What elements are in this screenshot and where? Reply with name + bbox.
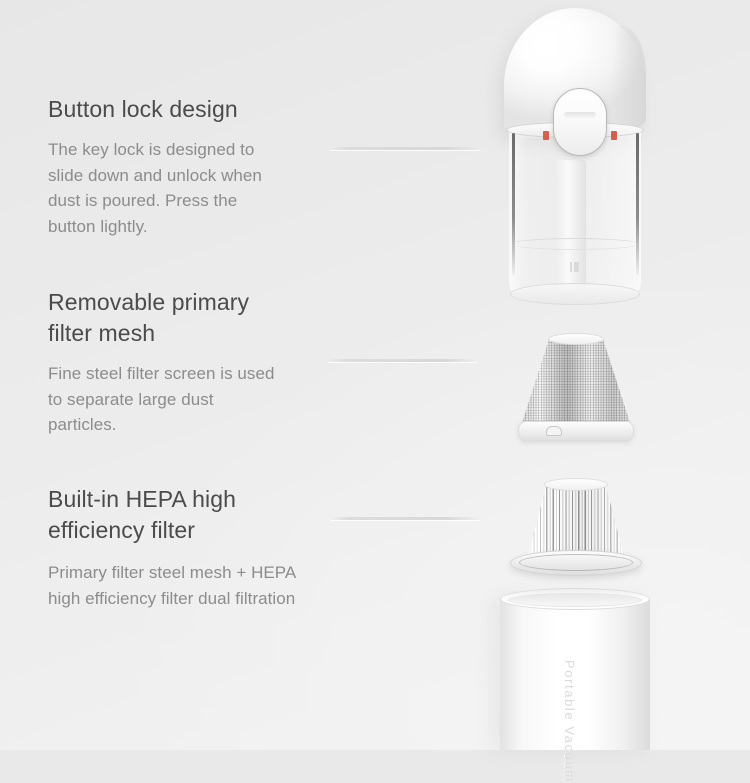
- lock-button-groove: [564, 112, 596, 118]
- steel-mesh-filter: [520, 333, 632, 445]
- body-brand-label: Portable Vacuum: [562, 660, 577, 783]
- dust-cup-marking: [570, 262, 579, 272]
- hepa-cone-shading: [527, 484, 625, 560]
- lock-indicator-left: [543, 131, 549, 140]
- dust-cup-edge-left: [512, 133, 515, 275]
- hepa-filter: [510, 478, 642, 578]
- lock-button-body: [553, 88, 607, 156]
- hepa-base-ring-inner: [519, 554, 633, 571]
- steel-mesh-top-rim: [548, 333, 604, 345]
- dome-shading: [612, 26, 646, 130]
- body-cylinder-rim-inner: [508, 593, 642, 607]
- dust-cup-edge-right: [636, 133, 639, 275]
- product-feature-infographic: Button lock design The key lock is desig…: [0, 0, 750, 750]
- dust-cup-band: [511, 238, 639, 250]
- steel-mesh-bottom-rim: [518, 421, 634, 441]
- hepa-top-cap: [544, 478, 608, 491]
- dust-cup-base: [510, 283, 640, 305]
- product-exploded-view: Portable Vacuum: [0, 0, 750, 750]
- steel-mesh-cone: [520, 339, 632, 429]
- lock-button: [553, 88, 607, 156]
- steel-mesh-tab: [546, 426, 562, 436]
- lock-indicator-right: [611, 131, 617, 140]
- dust-cup-inner-tube: [556, 160, 586, 292]
- dome-highlight: [524, 22, 580, 88]
